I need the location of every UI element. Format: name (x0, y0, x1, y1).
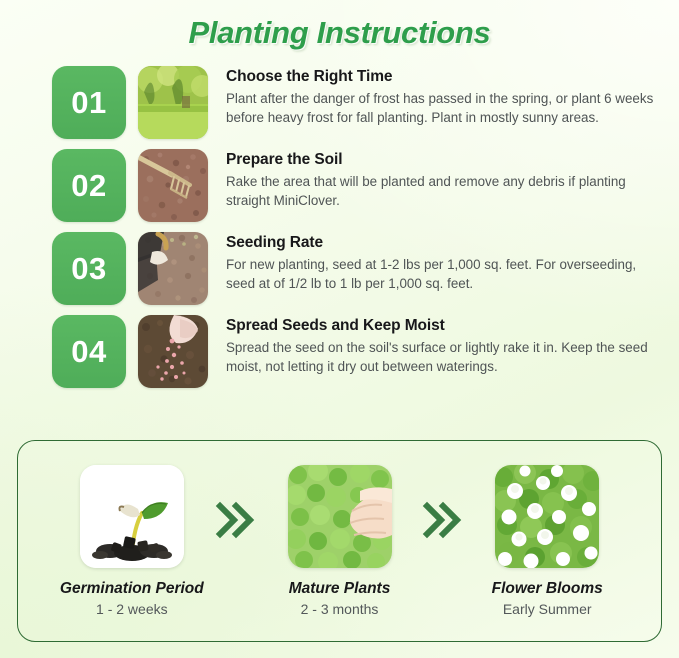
step-text-block: Spread Seeds and Keep Moist Spread the s… (226, 315, 659, 377)
step-item: 02 (52, 149, 659, 222)
timeline-title: Germination Period (50, 580, 214, 598)
step-text-block: Seeding Rate For new planting, seed at 1… (226, 232, 659, 294)
timeline-item-mature-plants: Mature Plants 2 - 3 months (258, 465, 422, 617)
step-thumbnail-scattering-seeds (138, 315, 208, 388)
step-number-badge: 04 (52, 315, 126, 388)
timeline-title: Flower Blooms (465, 580, 629, 598)
step-body: Rake the area that will be planted and r… (226, 172, 659, 211)
step-item: 03 (52, 232, 659, 305)
infographic-page: Planting Instructions 01 (0, 0, 679, 658)
step-number-badge: 01 (52, 66, 126, 139)
step-thumbnail-lawn-garden (138, 66, 208, 139)
step-title: Seeding Rate (226, 234, 659, 252)
steps-list: 01 (0, 66, 679, 388)
timeline-item-germination: Germination Period 1 - 2 weeks (50, 465, 214, 617)
timeline-image-seedling-sprout (80, 465, 184, 568)
step-item: 04 (52, 315, 659, 388)
step-item: 01 (52, 66, 659, 139)
step-thumbnail-rake-soil (138, 149, 208, 222)
timeline-title: Mature Plants (258, 580, 422, 598)
timeline-item-flower-blooms: Flower Blooms Early Summer (465, 465, 629, 617)
step-title: Prepare the Soil (226, 151, 659, 169)
step-body: Spread the seed on the soil's surface or… (226, 338, 659, 377)
timeline-subtitle: 1 - 2 weeks (50, 601, 214, 617)
timeline-image-white-clover-blooms (495, 465, 599, 568)
timeline-image-clover-leaves-hand (288, 465, 392, 568)
double-chevron-right-icon (214, 498, 258, 542)
step-text-block: Choose the Right Time Plant after the da… (226, 66, 659, 128)
step-text-block: Prepare the Soil Rake the area that will… (226, 149, 659, 211)
timeline-subtitle: Early Summer (465, 601, 629, 617)
timeline-subtitle: 2 - 3 months (258, 601, 422, 617)
step-number-badge: 03 (52, 232, 126, 305)
step-title: Choose the Right Time (226, 68, 659, 86)
step-thumbnail-hand-seeding (138, 232, 208, 305)
double-chevron-right-icon (421, 498, 465, 542)
step-title: Spread Seeds and Keep Moist (226, 317, 659, 335)
step-body: For new planting, seed at 1-2 lbs per 1,… (226, 255, 659, 294)
step-body: Plant after the danger of frost has pass… (226, 89, 659, 128)
page-title: Planting Instructions (0, 0, 679, 51)
growth-timeline-panel: Germination Period 1 - 2 weeks (17, 440, 662, 642)
step-number-badge: 02 (52, 149, 126, 222)
